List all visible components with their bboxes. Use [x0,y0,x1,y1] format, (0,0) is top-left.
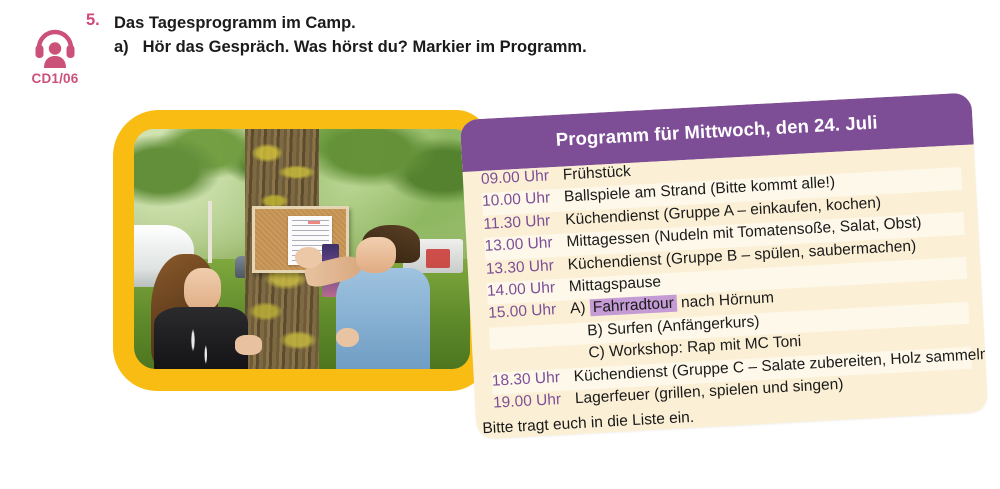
program-highlight-marker[interactable]: Fahrradtour [589,295,677,317]
photo-frame [113,110,490,391]
program-row-time: 15.00 Uhr [488,301,571,323]
exercise-header: CD1/06 5. Das Tagesprogramm im Camp. a) … [0,0,1000,100]
photo-boy-face [356,237,396,273]
headset-icon [33,28,77,68]
photo-boy-hand-pointing [295,247,322,269]
cd-track-label: CD1/06 [16,71,94,86]
photo-post [208,201,212,263]
task-subtask: a) Hör das Gespräch. Was hörst du? Marki… [114,35,814,59]
program-row-time: 13.30 Uhr [485,256,568,278]
photo-girl-face [184,268,221,311]
photo-boy-shirt [336,268,430,369]
photo-boy-hand-lower [336,328,360,347]
exercise-number: 5. [86,11,100,30]
program-card: Programm für Mittwoch, den 24. Juli 09.0… [460,92,989,439]
program-row-text: Frühstück [562,163,631,185]
subtask-text: Hör das Gespräch. Was hörst du? Markier … [143,38,587,56]
photo-girl-shirt-print [181,321,221,369]
program-row-time: 14.00 Uhr [487,278,570,300]
task-title: Das Tagesprogramm im Camp. [114,11,814,35]
program-row-time: 10.00 Uhr [482,189,565,211]
program-row-option-label: A) [570,300,591,318]
task-text-block: Das Tagesprogramm im Camp. a) Hör das Ge… [114,11,814,59]
program-row-time: 11.30 Uhr [483,211,566,233]
program-row-time: 13.00 Uhr [484,234,567,256]
program-row-time: 18.30 Uhr [491,368,574,390]
photo-girl-arm [235,335,262,354]
photo-image [134,129,470,369]
program-row-time: 09.00 Uhr [481,167,564,189]
program-row-list: 09.00 UhrFrühstück10.00 UhrBallspiele am… [463,144,988,418]
photo-tent-red [426,249,450,268]
task-title-text: Das Tagesprogramm im Camp. [114,14,356,32]
audio-track-badge: CD1/06 [16,28,94,86]
subtask-marker: a) [114,35,138,59]
photo-tape-top [308,221,319,225]
program-row-time: 19.00 Uhr [493,390,576,412]
program-row-text: Mittagspause [568,273,661,296]
